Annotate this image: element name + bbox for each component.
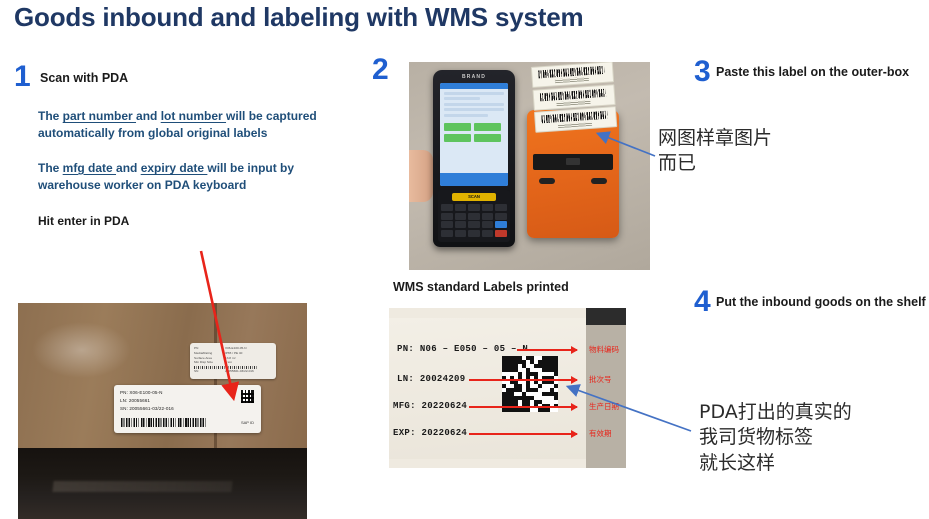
pda-key [468,221,480,228]
p2-term-expiry-date: expiry date [141,161,208,175]
pn-value: N06 – E050 – 05 – N [420,344,528,354]
pda-field-row [444,97,480,100]
p1-term-part-number: part number [63,109,136,123]
pda-key [468,213,480,220]
carton-original-label: PNX06-E100-05-N Media/RatingIP65 / PE 40… [190,343,276,379]
pda-key [441,213,453,220]
mfg-value: 20220624 [422,401,468,411]
printed-label-exp: EXP: 20220624 [393,428,467,438]
printed-label-note: PDA打出的真实的 我司货物标签 就长这样 [699,400,852,476]
pda-key [441,221,453,228]
pda-scan-key: SCAN [452,193,496,201]
carton-label-sn: SN: 20055661-03/22-016 [120,405,255,413]
carton-photo: PNX06-E100-05-N Media/RatingIP65 / PE 40… [18,303,307,519]
step1-paragraph-2: The mfg date and expiry date will be inp… [38,160,350,193]
printer-slot [533,154,613,170]
page-title: Goods inbound and labeling with WMS syst… [14,2,583,33]
pda-key [495,213,507,220]
red-arrow-mfg [469,406,577,408]
p2-mid: and [116,161,141,175]
hand [409,150,433,202]
pda-key-blue [495,221,507,228]
carton-label-sap-id: SAP ID [241,419,254,426]
pda-field-row [444,114,488,117]
carton-label-pn: PN: X06-E100-05-N [120,389,255,397]
printed-label-pn: PN: N06 – E050 – 05 – N [397,344,528,354]
pda-screen-footer [440,173,508,186]
pda-field-row [444,108,504,111]
cn-label-material-code: 物料编码 [589,344,619,355]
pda-screen [440,83,508,186]
carton-wms-label: PN: X06-E100-05-N LN: 20055661 SN: 20055… [114,385,261,433]
ln-key: LN: [397,374,414,384]
step1-paragraph-1: The part number and lot number will be c… [38,108,350,141]
p2-prefix: The [38,161,63,175]
printer-buttons [539,178,607,185]
step-number-2: 2 [372,55,389,85]
pda-key [482,204,494,211]
qr-code-icon [241,390,254,403]
pda-screen-button [444,123,471,131]
pda-keys-grid [441,204,507,237]
pda-photo-note-line2: 而已 [658,151,772,176]
step-number-4: 4 [694,287,711,317]
cn-label-production-date: 生产日期 [589,401,619,412]
step-number-3: 3 [694,57,711,87]
pda-key [482,230,494,237]
p1-mid: and [136,109,161,123]
pda-field-row [444,103,504,106]
exp-key: EXP: [393,428,416,438]
pda-screen-button [474,134,501,142]
step-heading-1: Scan with PDA [40,70,240,86]
pda-photo-note-line1: 网图样章图片 [658,126,772,151]
pda-key [482,221,494,228]
ln-value: 20024209 [420,374,466,384]
pda-printer-photo: BRAND SCAN [409,62,650,270]
red-arrow-ln [469,379,577,381]
pda-key [482,213,494,220]
slide-canvas: Goods inbound and labeling with WMS syst… [0,0,929,519]
printed-label-mfg: MFG: 20220624 [393,401,467,411]
pda-screen-button [474,123,501,131]
printed-label-note-line1: PDA打出的真实的 [699,400,852,425]
pda-key [468,230,480,237]
step1-closing: Hit enter in PDA [38,213,338,230]
carton-label-barcode [121,418,207,427]
pn-key: PN: [397,344,414,354]
cn-label-expiry: 有效期 [589,428,612,439]
exp-value: 20220624 [422,428,468,438]
pda-field-row [444,92,504,95]
p1-prefix: The [38,109,63,123]
pda-device: BRAND SCAN [433,70,515,247]
step-heading-4: Put the inbound goods on the shelf [716,294,928,310]
step-number-1: 1 [14,62,31,92]
pda-key [441,230,453,237]
pda-key [455,213,467,220]
printed-label-qr-icon [502,356,558,412]
carton-label-ln: LN: 20055661 [120,397,255,405]
carton-shadow-band [18,448,307,519]
p2-term-mfg-date: mfg date [63,161,116,175]
pda-brand-label: BRAND [433,74,515,80]
pda-screen-titlebar [440,83,508,89]
pda-screen-button [444,134,471,142]
pda-key [455,230,467,237]
pda-keypad: SCAN [438,190,510,242]
wms-labels-caption: WMS standard Labels printed [393,280,569,294]
printed-label-ln: LN: 20024209 [397,374,465,384]
pda-photo-note: 网图样章图片 而已 [658,126,772,177]
pda-key [468,204,480,211]
pda-key [495,204,507,211]
red-arrow-exp [469,433,577,435]
pda-key [455,221,467,228]
p1-term-lot-number: lot number [161,109,226,123]
orig-sn: 20055661-03/22-016 [225,369,254,374]
pda-key [455,204,467,211]
pda-key [441,204,453,211]
red-arrow-pn [517,349,577,351]
printed-label-note-line3: 就长这样 [699,451,852,476]
printed-label-strip [531,62,617,131]
step-heading-3: Paste this label on the outer-box [716,64,922,80]
mfg-key: MFG: [393,401,416,411]
orig-minsize: 7 ton [225,360,232,365]
printed-label-note-line2: 我司货物标签 [699,425,852,450]
pda-screen-buttons [440,119,508,146]
label-photo-background-strip [586,308,626,468]
cn-label-lot-number: 批次号 [589,374,612,385]
pda-key-red [495,230,507,237]
printed-label-photo: PN: N06 – E050 – 05 – N LN: 20024209 MFG… [389,308,626,468]
